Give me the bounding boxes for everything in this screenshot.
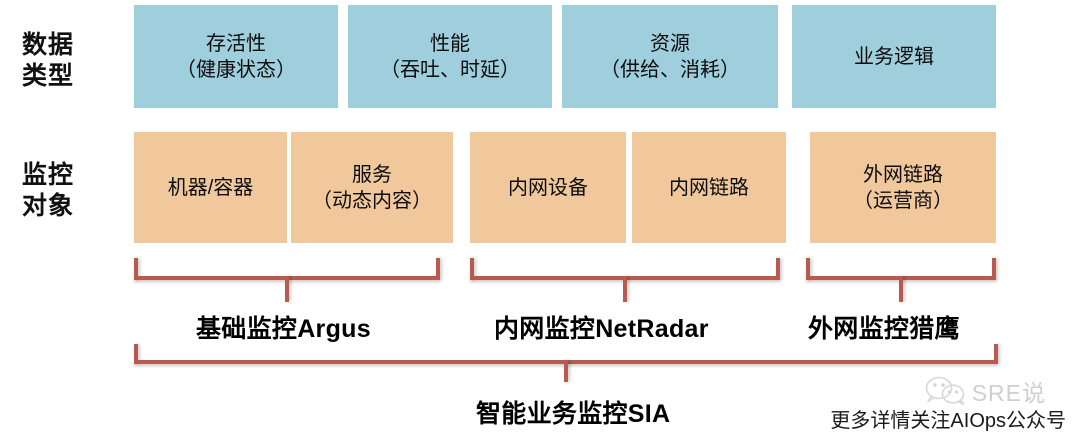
group-label-basic-monitoring: 基础监控Argus <box>196 309 371 345</box>
watermark-logo-row: SRE说 <box>925 374 1046 408</box>
watermark-caption: 更多详情关注AIOps公众号 <box>830 404 1066 433</box>
monitor-object-cell-service: 服务 （动态内容） <box>291 132 453 243</box>
group-label-overall-sia: 智能业务监控SIA <box>476 394 670 430</box>
wechat-icon <box>925 376 967 406</box>
monitor-object-cell-intranet-link: 内网链路 <box>632 132 786 243</box>
data-type-cell-resource: 资源 （供给、消耗） <box>562 5 778 108</box>
monitor-object-cell-machine-container: 机器/容器 <box>134 132 287 243</box>
group-label-intranet-monitoring: 内网监控NetRadar <box>494 309 709 345</box>
bracket-intranet-monitoring <box>470 258 782 304</box>
row-label-monitor-object: 监控 对象 <box>22 160 74 221</box>
diagram-canvas: 数据 类型 监控 对象 存活性 （健康状态） 性能 （吞吐、时延） 资源 （供给… <box>0 0 1080 444</box>
watermark-brand: SRE说 <box>972 374 1046 408</box>
watermark: SRE说 更多详情关注AIOps公众号 <box>832 374 1072 440</box>
bracket-extranet-monitoring <box>806 258 998 304</box>
monitor-object-cell-extranet-link: 外网链路 （运营商） <box>810 132 996 243</box>
data-type-cell-business-logic: 业务逻辑 <box>792 5 996 108</box>
row-label-data-type: 数据 类型 <box>22 30 74 91</box>
data-type-cell-performance: 性能 （吞吐、时延） <box>348 5 552 108</box>
group-label-extranet-monitoring: 外网监控猎鹰 <box>808 309 960 345</box>
bracket-basic-monitoring <box>134 258 442 304</box>
data-type-cell-survivability: 存活性 （健康状态） <box>134 5 338 108</box>
monitor-object-cell-intranet-device: 内网设备 <box>470 132 626 243</box>
